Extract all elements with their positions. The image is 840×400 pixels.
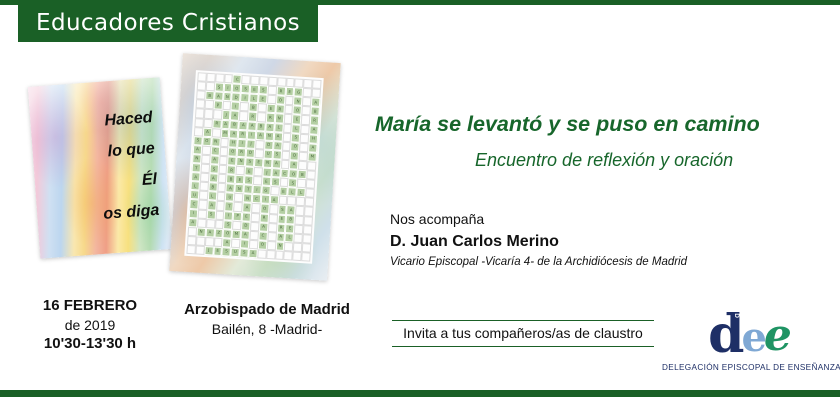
page-title: María se levantó y se puso en camino (375, 112, 760, 137)
speaker-role: Vicario Episcopal -Vicaría 4- de la Arch… (390, 256, 687, 268)
crossword-cell-empty (301, 252, 310, 262)
crossword-grid: CSIOSESREGBANDILEONAPIBEROBJARRNERRABAAB… (184, 70, 323, 264)
watercolor-line-2: lo que (107, 133, 156, 168)
logo-letter-d: d MADRID (708, 313, 742, 358)
venue-address: Bailén, 8 -Madrid- (163, 320, 371, 339)
poster-root: Educadores Cristianos Haced lo que Él os… (0, 0, 840, 400)
date-year: de 2019 (22, 316, 158, 334)
header-banner: Educadores Cristianos (18, 4, 318, 42)
logo-mark: d MADRID e e (662, 308, 838, 358)
watercolor-card-image: Haced lo que Él os diga (28, 77, 172, 258)
watercolor-line-4: os diga (102, 195, 160, 230)
page-subtitle: Encuentro de reflexión y oración (475, 150, 733, 171)
venue-name: Arzobispado de Madrid (163, 300, 371, 320)
logo-tagline: DELEGACIÓN EPISCOPAL DE ENSEÑANZA (662, 363, 838, 372)
date-time: 10'30-13'30 h (22, 334, 158, 354)
dee-logo: d MADRID e e DELEGACIÓN EPISCOPAL DE ENS… (662, 308, 838, 384)
banner-title: Educadores Cristianos (36, 10, 300, 36)
watercolor-line-1: Haced (103, 102, 153, 137)
venue-block: Arzobispado de Madrid Bailén, 8 -Madrid- (163, 300, 371, 339)
crossword-card-image: CSIOSESREGBANDILEONAPIBEROBJARRNERRABAAB… (169, 53, 340, 280)
watercolor-line-3: Él (141, 164, 158, 196)
speaker-intro: Nos acompaña (390, 211, 484, 227)
logo-letter-e-green: e (764, 314, 792, 358)
invite-callout: Invita a tus compañeros/as de claustro (392, 320, 654, 347)
logo-madrid-label: MADRID (734, 287, 740, 319)
bottom-green-rule (0, 390, 840, 397)
watercolor-card-text: Haced lo que Él os diga (28, 77, 172, 258)
date-day-month: 16 FEBRERO (22, 296, 158, 316)
date-block: 16 FEBRERO de 2019 10'30-13'30 h (22, 296, 158, 354)
speaker-name: D. Juan Carlos Merino (390, 233, 559, 251)
